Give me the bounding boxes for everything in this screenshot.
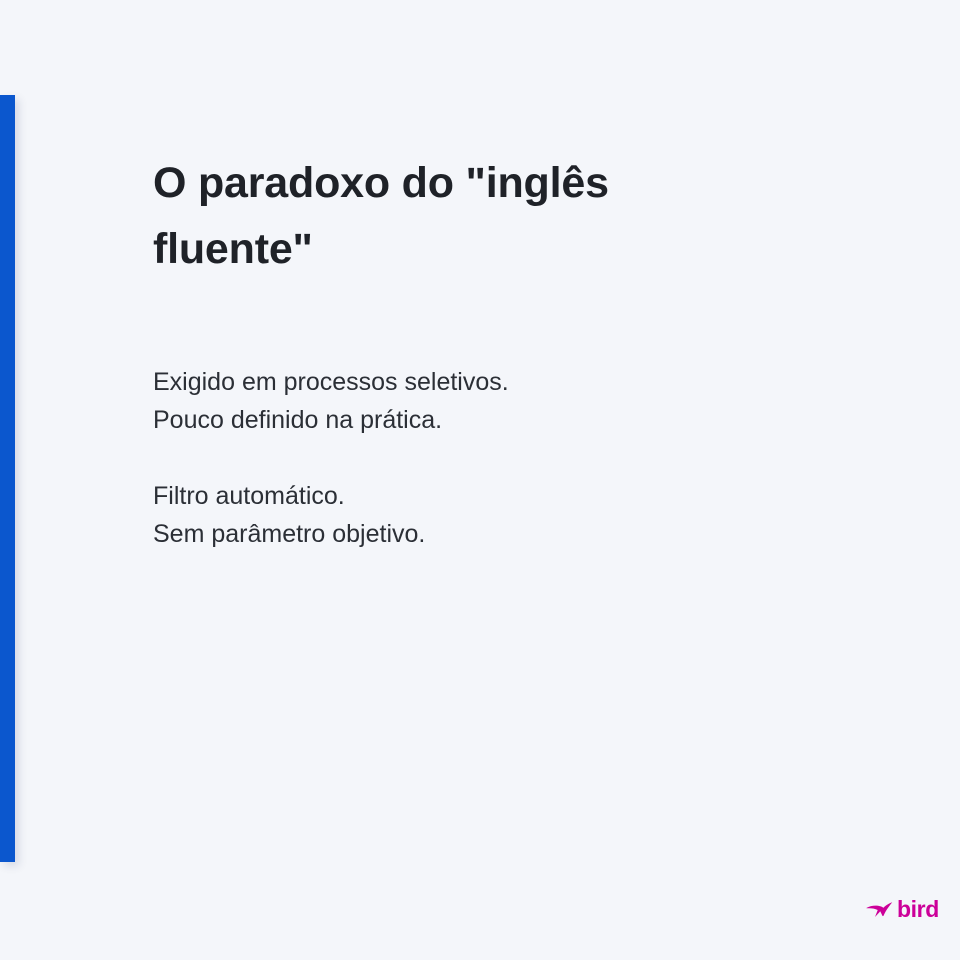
brand-logo: bird: [866, 898, 939, 921]
left-accent-bar: [0, 95, 15, 862]
body-text-block: Exigido em processos seletivos. Pouco de…: [153, 363, 713, 553]
page-title: O paradoxo do "inglês fluente": [153, 150, 713, 282]
body-paragraph: Exigido em processos seletivos. Pouco de…: [153, 363, 713, 439]
slide-canvas: O paradoxo do "inglês fluente" Exigido e…: [0, 0, 960, 960]
logo-wordmark: bird: [897, 898, 939, 921]
bird-icon: [866, 898, 893, 921]
body-paragraph: Filtro automático. Sem parâmetro objetiv…: [153, 477, 713, 553]
